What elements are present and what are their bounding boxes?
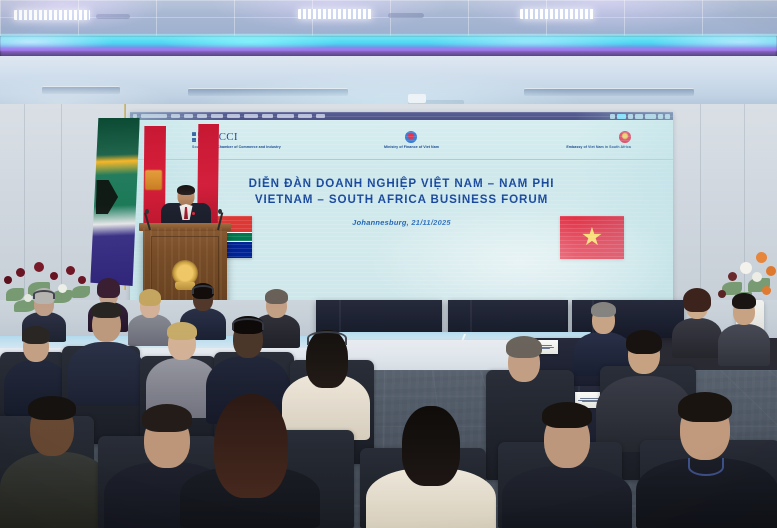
interpretation-headset	[232, 318, 264, 330]
hair	[22, 326, 50, 344]
soffit-glow	[0, 56, 777, 108]
vietnam-national-emblem-icon	[619, 131, 631, 143]
menu-item-insert[interactable]	[211, 114, 223, 118]
vietnam-star-icon: ★	[581, 225, 603, 250]
conference-hall-photo: SACCI South African Chamber of Commerce …	[0, 0, 777, 528]
lanyard	[688, 458, 724, 476]
menu-item-file[interactable]	[171, 114, 180, 118]
embassy-logo-block: Embassy of Viet Nam in South Africa	[485, 131, 673, 149]
audience-member-front-5	[502, 402, 632, 528]
hair	[683, 288, 711, 312]
speaker-hair	[177, 185, 195, 195]
bluetooth-icon[interactable]	[628, 114, 633, 119]
apple-menu-icon[interactable]	[133, 114, 137, 118]
ceiling	[0, 0, 777, 36]
menu-item-edit[interactable]	[184, 114, 193, 118]
clock-icon[interactable]	[645, 114, 656, 119]
torso	[502, 466, 632, 528]
wall-seam-2	[61, 104, 62, 304]
rose-bloom	[66, 266, 75, 275]
audience-member-front-4	[366, 406, 496, 528]
microphone-head-left	[145, 209, 149, 214]
menu-item-arrange[interactable]	[244, 114, 258, 118]
hair	[91, 302, 122, 318]
menu-item-tools[interactable]	[262, 114, 273, 118]
ministry-of-finance-caption: Ministry of Finance of Viet Nam	[384, 145, 439, 149]
orange-bloom	[756, 252, 767, 263]
audience-member-right-3	[718, 292, 770, 362]
embassy-caption: Embassy of Viet Nam in South Africa	[566, 145, 631, 149]
rose-bloom	[16, 268, 25, 277]
microphone-head-right	[218, 209, 222, 214]
menu-item-slide-show[interactable]	[277, 114, 294, 118]
hair	[506, 336, 542, 358]
hair	[402, 406, 460, 486]
hair	[265, 289, 288, 304]
south-africa-flag-draped	[90, 118, 140, 286]
ceiling-accent-lighting	[0, 0, 777, 36]
sa-flag-black-wedge	[96, 180, 119, 214]
rose-bloom	[34, 262, 44, 272]
speaker-lapel-pin	[192, 212, 195, 215]
rose-bloom	[4, 276, 12, 284]
hair	[591, 302, 616, 317]
wall-seam-3	[700, 104, 701, 304]
hair	[97, 278, 120, 298]
audience-member-mid-2	[68, 302, 144, 402]
menu-item-window[interactable]	[298, 114, 312, 118]
search-icon[interactable]	[658, 114, 663, 119]
system-status-icons[interactable]	[610, 114, 670, 119]
interpretation-headset	[307, 331, 347, 345]
lock-icon[interactable]	[610, 114, 615, 119]
dark-bloom	[728, 272, 737, 281]
torso	[0, 452, 112, 528]
interpretation-headset	[33, 290, 55, 299]
hair	[678, 392, 732, 422]
wifi-icon[interactable]	[617, 114, 626, 119]
menu-item-format[interactable]	[227, 114, 240, 118]
hair	[167, 322, 197, 340]
hair	[214, 394, 288, 498]
wall-seam-4	[744, 104, 745, 304]
battery-icon[interactable]	[635, 114, 643, 119]
ministry-of-finance-emblem-icon	[405, 131, 417, 143]
audience-member-front-6	[636, 392, 777, 528]
menu-item-powerpoint[interactable]	[141, 114, 167, 118]
menu-item-help[interactable]	[316, 114, 325, 118]
control-center-icon[interactable]	[665, 114, 670, 119]
menu-item-view[interactable]	[197, 114, 207, 118]
white-bloom	[740, 262, 752, 274]
hair	[542, 402, 592, 428]
hair	[732, 293, 756, 309]
audience-member-front-3	[180, 394, 320, 528]
audience-member-front-1	[0, 396, 112, 528]
ministry-of-finance-logo-block: Ministry of Finance of Viet Nam	[338, 131, 484, 149]
torso	[718, 324, 770, 366]
white-bloom	[752, 272, 762, 282]
rose-bloom	[78, 276, 86, 284]
orange-bloom	[766, 266, 776, 276]
interpretation-headset	[192, 285, 214, 294]
hair	[626, 330, 662, 354]
rose-bloom	[50, 272, 58, 280]
hair	[28, 396, 76, 420]
presentation-app-menu-bar[interactable]	[130, 112, 673, 120]
